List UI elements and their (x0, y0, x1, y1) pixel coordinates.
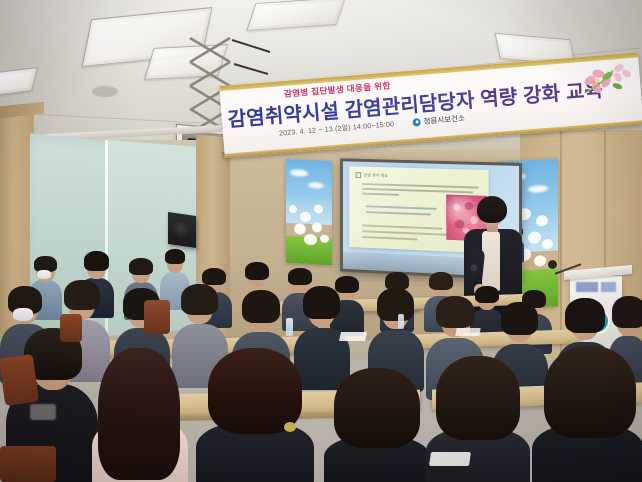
handout-paper (455, 328, 480, 336)
chair-back (0, 354, 39, 406)
water-bottle (398, 314, 404, 329)
audience-member (324, 368, 430, 482)
slide-heading-text: 감염 관리 개요 (364, 172, 388, 179)
gooseneck-microphone (548, 254, 588, 276)
city-logo-icon (412, 118, 421, 127)
audience-member (532, 346, 642, 482)
audience-member (92, 352, 188, 482)
ceiling-vent (92, 86, 118, 97)
chair-back (0, 446, 56, 482)
earring-icon (284, 422, 296, 432)
water-bottle (286, 318, 293, 336)
slide-bullet-icon (356, 172, 361, 178)
presenter-hair (477, 196, 507, 223)
handout-paper (429, 452, 471, 466)
chair-back (144, 300, 170, 334)
chair-back (60, 314, 82, 342)
slide-heading: 감염 관리 개요 (356, 172, 388, 179)
handout-paper (339, 332, 367, 341)
cherry-blossom-mural-left (286, 159, 332, 265)
seminar-photo: 감염 관리 개요 (0, 0, 642, 482)
presenter-shirt (482, 231, 500, 291)
banner-organization-label: 정읍시보건소 (423, 113, 465, 127)
shirt-print (30, 404, 56, 420)
audience-member (196, 348, 314, 482)
podium-nameplate (576, 282, 616, 292)
wall-speaker (168, 212, 196, 248)
